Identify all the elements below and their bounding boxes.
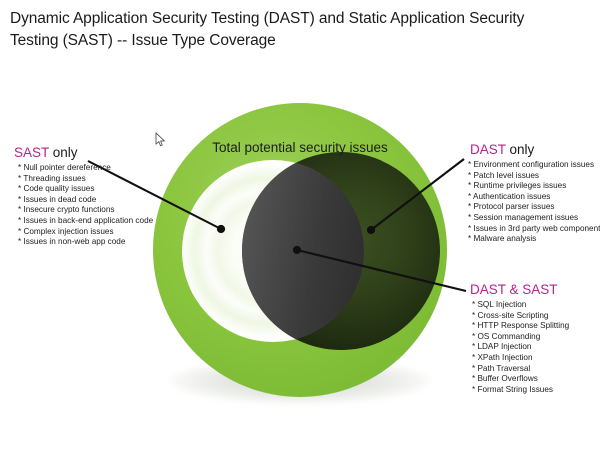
leader-line-dast <box>371 159 464 230</box>
list-item: * Issues in dead code <box>18 195 153 206</box>
list-item: * HTTP Response Splitting <box>472 321 569 332</box>
list-item: * LDAP Injection <box>472 342 569 353</box>
list-item: * Buffer Overflows <box>472 374 569 385</box>
list-item: * Complex injection issues <box>18 227 153 238</box>
list-item: * Cross-site Scripting <box>472 311 569 322</box>
callout-dast-only-heading-plain: only <box>510 142 535 157</box>
callout-sast-only-list: * Null pointer dereference * Threading i… <box>12 163 153 248</box>
callout-sast-only: SAST only * Null pointer dereference * T… <box>12 145 153 248</box>
leader-dot-dast <box>368 227 374 233</box>
list-item: * Path Traversal <box>472 364 569 375</box>
list-item: * Issues in back-end application code <box>18 216 153 227</box>
list-item: * Threading issues <box>18 174 153 185</box>
leader-dot-sast <box>218 226 224 232</box>
leader-dot-dast-sast <box>294 247 300 253</box>
callout-dast-and-sast-list: * SQL Injection * Cross-site Scripting *… <box>466 300 569 395</box>
list-item: * XPath Injection <box>472 353 569 364</box>
list-item: * Issues in non-web app code <box>18 237 153 248</box>
callout-dast-and-sast-heading: DAST & SAST <box>466 282 569 297</box>
list-item: * OS Commanding <box>472 332 569 343</box>
slide-canvas: Dynamic Application Security Testing (DA… <box>0 0 600 450</box>
list-item: * Insecure crypto functions <box>18 205 153 216</box>
list-item: * Null pointer dereference <box>18 163 153 174</box>
callout-sast-only-heading: SAST only <box>12 145 153 160</box>
callout-dast-only: DAST only * Environment configuration is… <box>466 142 600 245</box>
list-item: * Protocol parser issues <box>468 202 600 213</box>
list-item: * Issues in 3rd party web components <box>468 224 600 235</box>
callout-dast-only-heading: DAST only <box>466 142 600 157</box>
list-item: * Environment configuration issues <box>468 160 600 171</box>
callout-dast-only-heading-accent: DAST <box>470 142 506 157</box>
leader-line-dast-sast <box>297 250 466 291</box>
callout-dast-and-sast-heading-accent: DAST & SAST <box>470 282 558 297</box>
list-item: * Format String Issues <box>472 385 569 396</box>
callout-dast-only-list: * Environment configuration issues * Pat… <box>466 160 600 245</box>
callout-sast-only-heading-accent: SAST <box>14 145 49 160</box>
mouse-pointer-icon <box>155 132 167 148</box>
list-item: * Runtime privileges issues <box>468 181 600 192</box>
list-item: * SQL Injection <box>472 300 569 311</box>
list-item: * Patch level issues <box>468 171 600 182</box>
list-item: * Authentication issues <box>468 192 600 203</box>
callout-sast-only-heading-plain: only <box>53 145 78 160</box>
list-item: * Code quality issues <box>18 184 153 195</box>
list-item: * Malware analysis <box>468 234 600 245</box>
callout-dast-and-sast: DAST & SAST * SQL Injection * Cross-site… <box>466 282 569 395</box>
list-item: * Session management issues <box>468 213 600 224</box>
